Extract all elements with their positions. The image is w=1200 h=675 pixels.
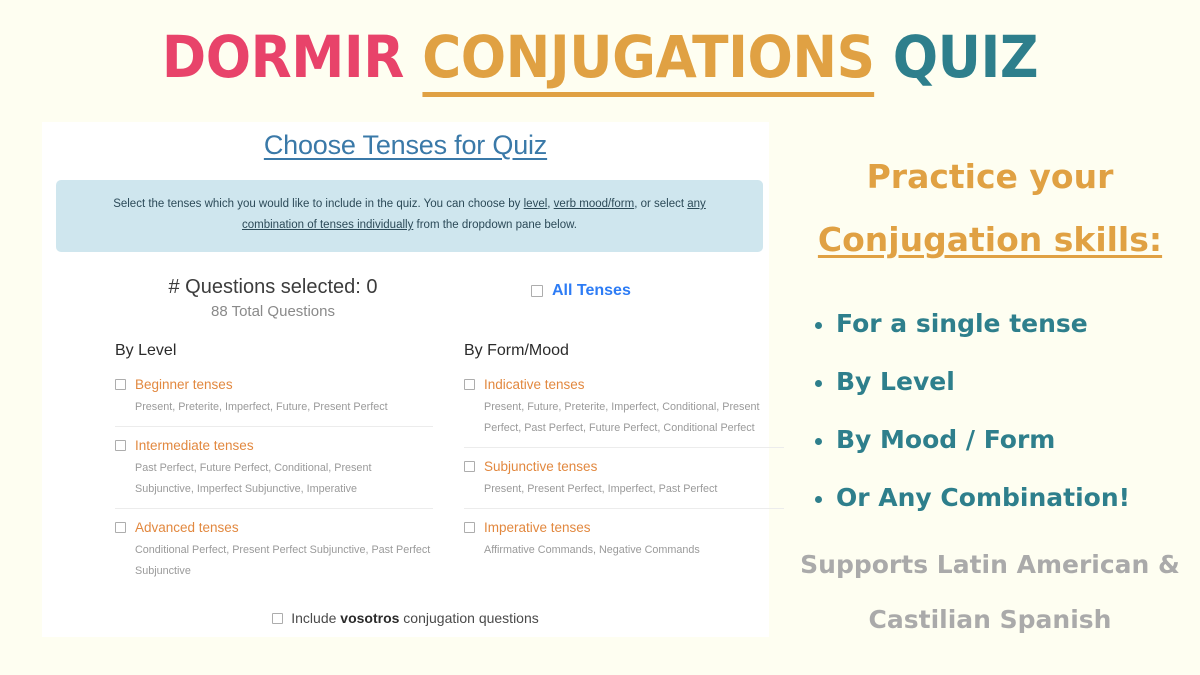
info-text-part1: Select the tenses which you would like t… <box>113 198 523 210</box>
info-text-part4: from the dropdown pane below. <box>413 219 577 231</box>
column-title-by-form-mood: By Form/Mood <box>464 342 784 360</box>
group-advanced: Advanced tenses Conditional Perfect, Pre… <box>115 508 433 590</box>
group-header-subjunctive[interactable]: Subjunctive tenses <box>464 459 784 474</box>
column-title-by-level: By Level <box>115 342 433 360</box>
checkbox-icon-subjunctive[interactable] <box>464 461 475 472</box>
promo-heading-line2: Conjugation skills: <box>790 208 1190 271</box>
group-tenses-intermediate: Past Perfect, Future Perfect, Conditiona… <box>135 458 433 500</box>
group-label-indicative: Indicative tenses <box>484 377 585 392</box>
all-tenses-checkbox-row[interactable]: All Tenses <box>531 282 631 300</box>
total-questions: 88 Total Questions <box>115 303 431 320</box>
group-header-imperative[interactable]: Imperative tenses <box>464 520 784 535</box>
checkbox-icon-all-tenses[interactable] <box>531 285 543 297</box>
group-indicative: Indicative tenses Present, Future, Prete… <box>464 377 784 447</box>
checkbox-icon-intermediate[interactable] <box>115 440 126 451</box>
group-label-beginner: Beginner tenses <box>135 377 233 392</box>
group-label-intermediate: Intermediate tenses <box>135 438 254 453</box>
promo-panel: Practice your Conjugation skills: For a … <box>790 145 1190 647</box>
group-intermediate: Intermediate tenses Past Perfect, Future… <box>115 426 433 508</box>
title-word-dormir: DORMIR <box>162 23 404 91</box>
promo-bullet-list: For a single tense By Level By Mood / Fo… <box>790 295 1190 527</box>
promo-bullet-single-tense: For a single tense <box>790 295 1190 353</box>
group-tenses-advanced: Conditional Perfect, Present Perfect Sub… <box>135 540 433 582</box>
group-label-subjunctive: Subjunctive tenses <box>484 459 597 474</box>
promo-bullet-by-mood-form: By Mood / Form <box>790 411 1190 469</box>
group-subjunctive: Subjunctive tenses Present, Present Perf… <box>464 447 784 508</box>
promo-heading: Practice your Conjugation skills: <box>790 145 1190 271</box>
quiz-card: Choose Tenses for Quiz Select the tenses… <box>42 122 769 637</box>
column-by-form-mood: By Form/Mood Indicative tenses Present, … <box>464 342 784 569</box>
group-header-beginner[interactable]: Beginner tenses <box>115 377 433 392</box>
info-link-level[interactable]: level <box>524 198 548 210</box>
group-label-imperative: Imperative tenses <box>484 520 591 535</box>
checkbox-icon-indicative[interactable] <box>464 379 475 390</box>
info-banner: Select the tenses which you would like t… <box>56 180 763 252</box>
promo-footer: Supports Latin American & Castilian Span… <box>790 537 1190 647</box>
promo-footer-line1: Supports Latin American & <box>790 537 1190 592</box>
promo-footer-line2: Castilian Spanish <box>790 592 1190 647</box>
page-title: DORMIR CONJUGATIONS QUIZ <box>48 24 1152 90</box>
info-text-part3: , or select <box>634 198 687 210</box>
promo-bullet-any-combination: Or Any Combination! <box>790 469 1190 527</box>
group-label-advanced: Advanced tenses <box>135 520 239 535</box>
promo-heading-line1: Practice your <box>790 145 1190 208</box>
checkbox-icon-beginner[interactable] <box>115 379 126 390</box>
group-tenses-subjunctive: Present, Present Perfect, Imperfect, Pas… <box>484 479 784 500</box>
vosotros-label-strong: vosotros <box>340 610 399 626</box>
group-tenses-imperative: Affirmative Commands, Negative Commands <box>484 540 784 561</box>
info-link-mood-form[interactable]: verb mood/form <box>554 198 635 210</box>
group-header-indicative[interactable]: Indicative tenses <box>464 377 784 392</box>
checkbox-icon-advanced[interactable] <box>115 522 126 533</box>
counts-row: # Questions selected: 0 88 Total Questio… <box>42 276 769 332</box>
title-word-quiz: QUIZ <box>893 23 1038 91</box>
group-tenses-indicative: Present, Future, Preterite, Imperfect, C… <box>484 397 784 439</box>
group-header-advanced[interactable]: Advanced tenses <box>115 520 433 535</box>
vosotros-checkbox-row[interactable]: Include vosotros conjugation questions <box>42 610 769 626</box>
vosotros-label-after: conjugation questions <box>399 610 538 626</box>
questions-selected: # Questions selected: 0 <box>115 276 431 299</box>
title-word-conjugations: CONJUGATIONS <box>422 23 874 97</box>
tense-groups: By Level Beginner tenses Present, Preter… <box>42 342 769 602</box>
group-tenses-beginner: Present, Preterite, Imperfect, Future, P… <box>135 397 433 418</box>
card-heading: Choose Tenses for Quiz <box>42 130 769 161</box>
group-beginner: Beginner tenses Present, Preterite, Impe… <box>115 377 433 426</box>
checkbox-icon-vosotros[interactable] <box>272 613 283 624</box>
column-by-level: By Level Beginner tenses Present, Preter… <box>115 342 433 590</box>
promo-bullet-by-level: By Level <box>790 353 1190 411</box>
group-header-intermediate[interactable]: Intermediate tenses <box>115 438 433 453</box>
checkbox-icon-imperative[interactable] <box>464 522 475 533</box>
all-tenses-label: All Tenses <box>552 282 631 300</box>
vosotros-label-before: Include <box>291 610 340 626</box>
group-imperative: Imperative tenses Affirmative Commands, … <box>464 508 784 569</box>
